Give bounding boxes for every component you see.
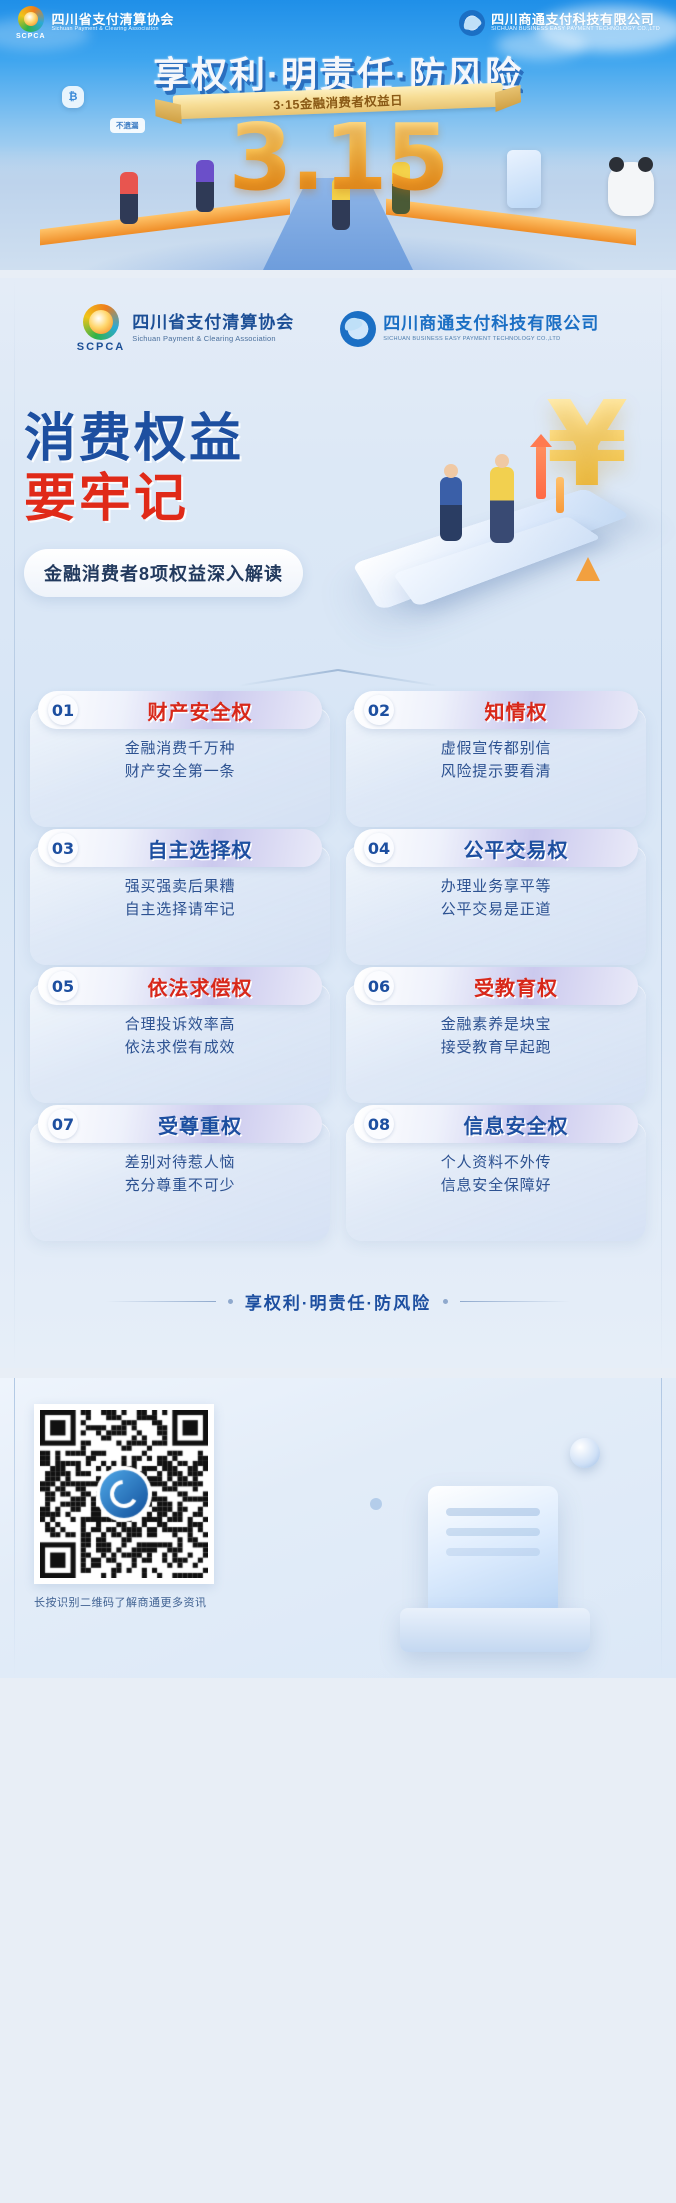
qr-block: 长按识别二维码了解商通更多资讯: [34, 1404, 244, 1610]
rights-card[interactable]: 04 公平交易权 办理业务享平等 公平交易是正道: [346, 845, 646, 965]
scpca-abbr: SCPCA: [16, 33, 46, 40]
footer-dot-icon: [228, 1299, 233, 1304]
scpca-name-cn: 四川省支付清算协会: [132, 314, 294, 333]
banner-sign-label: 不遗漏: [110, 118, 145, 133]
rights-card-header: 02 知情权: [354, 691, 638, 729]
rights-card-header: 08 信息安全权: [354, 1105, 638, 1143]
poster-logo-row: SCPCA 四川省支付清算协会 Sichuan Payment & Cleari…: [0, 278, 676, 363]
arrow-up-icon: [536, 445, 546, 499]
banner-logo-sbep: 四川商通支付科技有限公司 SICHUAN BUSINESS EASY PAYME…: [459, 10, 660, 36]
poster-title-line2: 要牢记: [24, 471, 303, 527]
scpca-flame-icon: [18, 6, 44, 32]
scpca-abbr: SCPCA: [77, 341, 126, 353]
rights-card[interactable]: 07 受尊重权 差别对待惹人恼 充分尊重不可少: [30, 1121, 330, 1241]
scpca-mark-block: SCPCA: [16, 6, 46, 40]
rights-card-title: 公平交易权: [404, 834, 628, 863]
rights-card-line1: 虚假宣传都别信: [356, 737, 636, 760]
rights-card-number: 05: [48, 971, 78, 1001]
qr-caption: 长按识别二维码了解商通更多资讯: [34, 1594, 244, 1610]
podium-base-shape: [400, 1608, 590, 1652]
rights-card-line1: 金融消费千万种: [40, 737, 320, 760]
main-poster: SCPCA 四川省支付清算协会 Sichuan Payment & Cleari…: [0, 278, 676, 1368]
poster-scpca-text: 四川省支付清算协会 Sichuan Payment & Clearing Ass…: [132, 314, 294, 344]
poster-sbep-text: 四川商通支付科技有限公司 SICHUAN BUSINESS EASY PAYME…: [383, 315, 599, 342]
rights-card-title: 受尊重权: [88, 1110, 312, 1139]
rights-card-line2: 财产安全第一条: [40, 760, 320, 783]
sphere-decoration: [570, 1438, 600, 1468]
rights-card[interactable]: 01 财产安全权 金融消费千万种 财产安全第一条: [30, 707, 330, 827]
rights-card-title: 自主选择权: [88, 834, 312, 863]
hero-text-block: 消费权益 要牢记 金融消费者8项权益深入解读: [24, 411, 303, 597]
rights-card-line2: 接受教育早起跑: [356, 1036, 636, 1059]
rights-card-header: 04 公平交易权: [354, 829, 638, 867]
qr-section: 长按识别二维码了解商通更多资讯: [0, 1378, 676, 1678]
podium-illustration: [376, 1442, 606, 1652]
rights-card[interactable]: 06 受教育权 金融素养是块宝 接受教育早起跑: [346, 983, 646, 1103]
rights-card-line1: 强买强卖后果糟: [40, 875, 320, 898]
rights-card-title: 财产安全权: [88, 696, 312, 725]
poster-footer: 享权利·明责任·防风险: [0, 1271, 676, 1340]
footer-rule-right: [460, 1301, 570, 1302]
scpca-flame-icon: [83, 304, 119, 340]
rights-card-title: 受教育权: [404, 972, 628, 1001]
rights-card-title: 依法求偿权: [88, 972, 312, 1001]
rights-card-line1: 差别对待惹人恼: [40, 1151, 320, 1174]
rights-card-grid: 01 财产安全权 金融消费千万种 财产安全第一条 02 知情权 虚假宣传都别信 …: [0, 703, 676, 1241]
rights-card-number: 01: [48, 695, 78, 725]
poster-logo-sbep: 四川商通支付科技有限公司 SICHUAN BUSINESS EASY PAYME…: [340, 311, 599, 347]
banner-logo-row: SCPCA 四川省支付清算协会 Sichuan Payment & Cleari…: [0, 6, 676, 40]
rights-card-number: 04: [364, 833, 394, 863]
rights-card-header: 01 财产安全权: [38, 691, 322, 729]
qr-code-canvas: [40, 1410, 208, 1578]
rights-card-line1: 合理投诉效率高: [40, 1013, 320, 1036]
poster-footer-text: 享权利·明责任·防风险: [245, 1289, 431, 1314]
sbep-text-block: 四川商通支付科技有限公司 SICHUAN BUSINESS EASY PAYME…: [491, 13, 660, 34]
qr-code-image[interactable]: [34, 1404, 214, 1584]
poster-subtitle-badge: 金融消费者8项权益深入解读: [24, 549, 303, 597]
rights-card-title: 知情权: [404, 696, 628, 725]
arrow-up-icon: [556, 477, 564, 513]
person-figure: [490, 467, 514, 543]
rights-card-line1: 金融素养是块宝: [356, 1013, 636, 1036]
phone-illustration: [507, 150, 541, 208]
rights-card[interactable]: 02 知情权 虚假宣传都别信 风险提示要看清: [346, 707, 646, 827]
runner-figure: [120, 172, 138, 224]
sbep-name-cn: 四川商通支付科技有限公司: [383, 315, 599, 334]
chevron-divider-icon: [238, 669, 438, 691]
sbep-name-cn: 四川商通支付科技有限公司: [491, 13, 660, 27]
rights-card-line1: 个人资料不外传: [356, 1151, 636, 1174]
poster-title-line1: 消费权益: [24, 411, 303, 467]
person-figure: [440, 477, 462, 541]
rights-card-number: 02: [364, 695, 394, 725]
poster-scpca-mark-block: SCPCA: [77, 304, 126, 353]
rights-card[interactable]: 05 依法求偿权 合理投诉效率高 依法求偿有成效: [30, 983, 330, 1103]
top-banner: SCPCA 四川省支付清算协会 Sichuan Payment & Cleari…: [0, 0, 676, 270]
panda-mascot: [608, 162, 654, 216]
rights-card-header: 07 受尊重权: [38, 1105, 322, 1143]
sbep-name-en: SICHUAN BUSINESS EASY PAYMENT TECHNOLOGY…: [383, 336, 599, 342]
rights-card-line2: 充分尊重不可少: [40, 1174, 320, 1197]
scpca-name-cn: 四川省支付清算协会: [52, 13, 174, 27]
footer-dot-icon: [443, 1299, 448, 1304]
rights-card-header: 03 自主选择权: [38, 829, 322, 867]
rights-card-line2: 风险提示要看清: [356, 760, 636, 783]
runner-figure: [196, 160, 214, 212]
hero-illustration: ¥: [340, 381, 670, 631]
rights-card-line2: 依法求偿有成效: [40, 1036, 320, 1059]
cone-shape: [576, 557, 600, 581]
footer-rule-left: [106, 1301, 216, 1302]
rights-card-title: 信息安全权: [404, 1110, 628, 1139]
rights-card-header: 06 受教育权: [354, 967, 638, 1005]
rights-card-number: 03: [48, 833, 78, 863]
scpca-name-en: Sichuan Payment & Clearing Association: [132, 334, 294, 343]
sbep-name-en: SICHUAN BUSINESS EASY PAYMENT TECHNOLOGY…: [491, 26, 660, 33]
poster-hero: ¥ 消费权益 要牢记 金融消费者8项权益深入解读: [0, 363, 676, 663]
document-card-shape: [428, 1486, 558, 1616]
rights-card-line2: 公平交易是正道: [356, 898, 636, 921]
scpca-name-en: Sichuan Payment & Clearing Association: [52, 26, 174, 33]
rights-card-line2: 信息安全保障好: [356, 1174, 636, 1197]
banner-big-number: 3.15: [229, 104, 448, 211]
banner-ribbon-label: 3·15金融消费者权益日: [273, 89, 403, 113]
rights-card[interactable]: 03 自主选择权 强买强卖后果糟 自主选择请牢记: [30, 845, 330, 965]
sbep-swirl-icon: [340, 311, 376, 347]
rights-card-header: 05 依法求偿权: [38, 967, 322, 1005]
sbep-swirl-icon: [459, 10, 485, 36]
rights-card[interactable]: 08 信息安全权 个人资料不外传 信息安全保障好: [346, 1121, 646, 1241]
dot-decoration: [370, 1498, 382, 1510]
rights-card-number: 07: [48, 1109, 78, 1139]
rights-card-line1: 办理业务享平等: [356, 875, 636, 898]
rights-card-line2: 自主选择请牢记: [40, 898, 320, 921]
poster-logo-scpca: SCPCA 四川省支付清算协会 Sichuan Payment & Cleari…: [77, 304, 295, 353]
banner-logo-scpca: SCPCA 四川省支付清算协会 Sichuan Payment & Cleari…: [16, 6, 174, 40]
rights-card-number: 08: [364, 1109, 394, 1139]
rights-card-number: 06: [364, 971, 394, 1001]
scpca-text-block: 四川省支付清算协会 Sichuan Payment & Clearing Ass…: [52, 13, 174, 34]
